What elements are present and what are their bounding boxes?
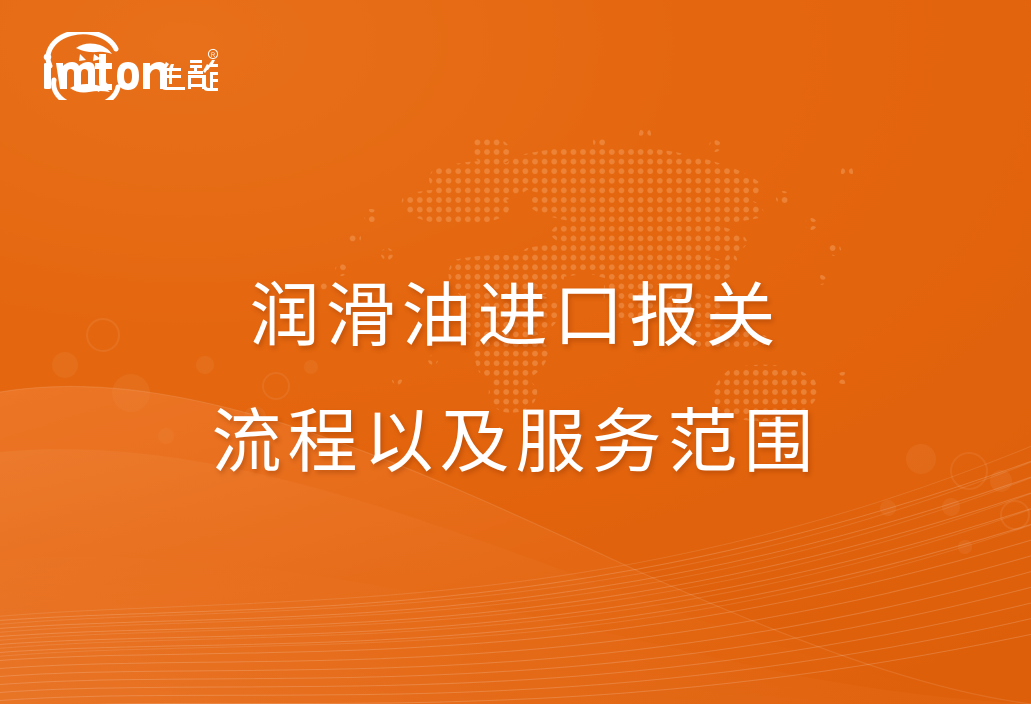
- dotted-world-map: [175, 128, 875, 468]
- brand-logo[interactable]: R: [40, 32, 218, 100]
- logo-latin-wordmark: [44, 53, 167, 90]
- trademark-icon: R: [208, 49, 217, 59]
- logo-chinese-wordmark: [161, 60, 218, 91]
- banner-slide: R 润滑油进口报关 流程以及服务范围: [0, 0, 1031, 704]
- svg-text:R: R: [211, 53, 216, 59]
